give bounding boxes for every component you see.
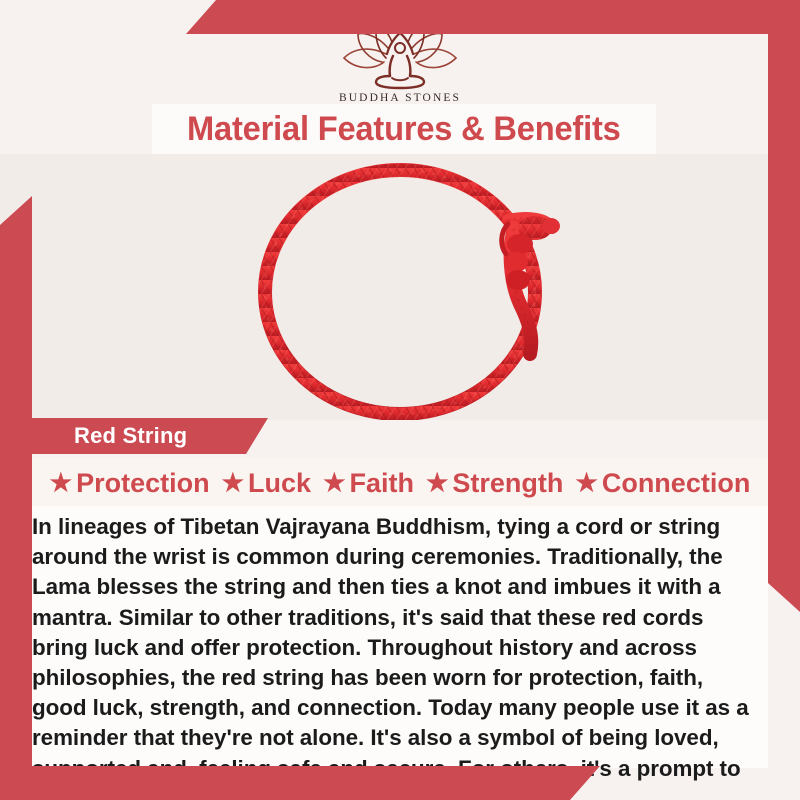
page-title-text: Material Features & Benefits: [187, 110, 621, 149]
brand-wordmark: BUDDHA STONES: [339, 92, 461, 104]
description-panel: In lineages of Tibetan Vajrayana Buddhis…: [32, 506, 768, 768]
benefits-list: ★ Protection ★ Luck ★ Faith ★ Strength ★…: [32, 458, 768, 508]
poster-canvas: BUDDHA STONES: [0, 0, 800, 800]
benefit-label: Strength: [452, 468, 563, 499]
page-title: Material Features & Benefits: [152, 104, 656, 154]
benefit-label: Faith: [349, 468, 414, 499]
star-icon: ★: [426, 471, 448, 496]
star-icon: ★: [575, 471, 597, 496]
benefit-item-connection: ★ Connection: [569, 468, 756, 499]
benefit-label: Protection: [76, 468, 210, 499]
material-tag-row: Red String: [0, 418, 800, 454]
benefit-label: Connection: [602, 468, 751, 499]
material-tag-label: Red String: [74, 423, 187, 449]
benefit-item-luck: ★ Luck: [216, 468, 317, 499]
description-text: In lineages of Tibetan Vajrayana Buddhis…: [32, 512, 752, 800]
star-icon: ★: [50, 471, 72, 496]
benefit-label: Luck: [248, 468, 311, 499]
star-icon: ★: [222, 471, 244, 496]
material-tag: Red String: [18, 418, 268, 454]
benefit-item-faith: ★ Faith: [317, 468, 420, 499]
poster: BUDDHA STONES: [0, 0, 800, 800]
red-string-bracelet-photo: [0, 154, 800, 420]
star-icon: ★: [323, 471, 345, 496]
benefit-item-protection: ★ Protection: [44, 468, 216, 499]
product-image: [0, 154, 800, 420]
benefit-item-strength: ★ Strength: [420, 468, 569, 499]
